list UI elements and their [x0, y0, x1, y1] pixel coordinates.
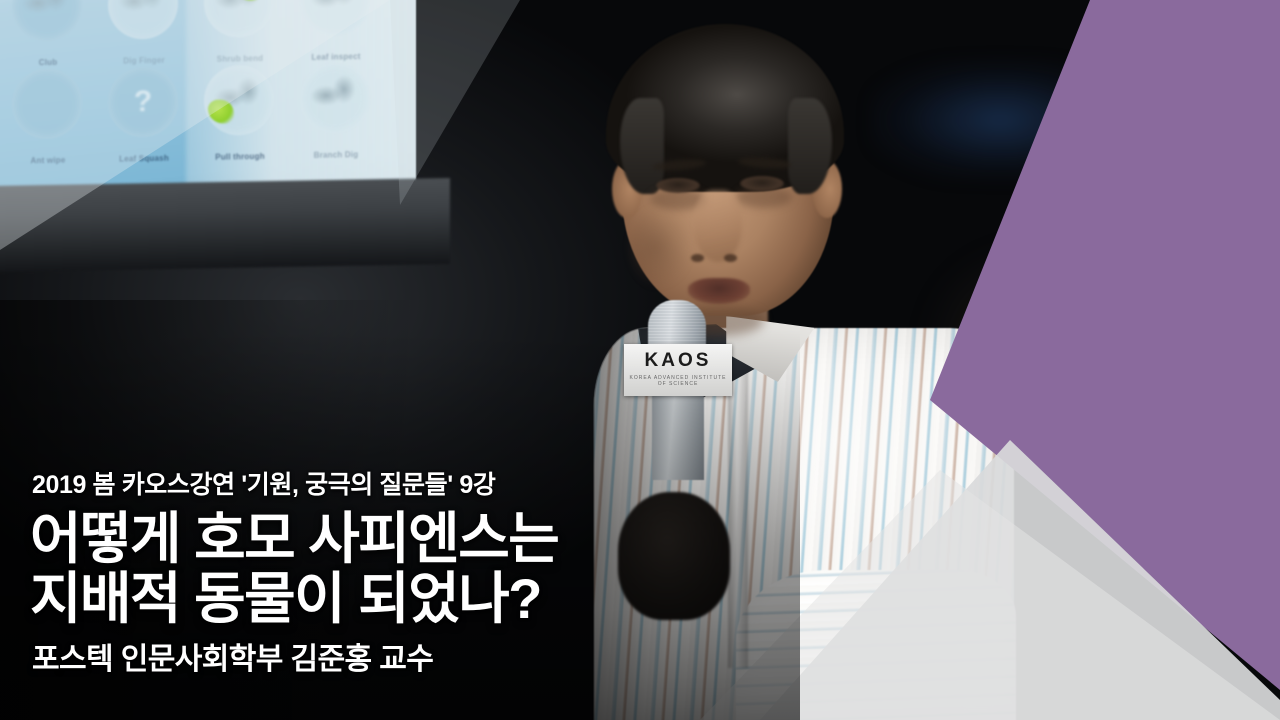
slide-row-1: Club Dig Finger Shrub bend [0, 0, 416, 66]
caption-presenter: 포스텍 인문사회학부 김준홍 교수 [32, 643, 810, 676]
video-thumbnail: Club Dig Finger Shrub bend [0, 0, 1280, 720]
slide-cell: Club [0, 0, 96, 66]
slide-label: Pull through [192, 151, 288, 162]
speaker-eye-right [740, 176, 784, 191]
speaker-mouth [688, 278, 750, 304]
projection-screen: Club Dig Finger Shrub bend [0, 0, 416, 190]
slide-row-2: Ant wipe ? Leaf Squash Pull through [0, 60, 416, 164]
slide-label: Ant wipe [0, 155, 96, 166]
slide-bubble-icon: ? [108, 66, 178, 137]
slide-label: Branch Dig [288, 149, 384, 160]
slide-cell: Shrub bend [192, 0, 288, 62]
caption-block: 2019 봄 카오스강연 '기원, 궁극의 질문들' 9강 어떻게 호모 사피엔… [30, 472, 810, 676]
slide-hand-sketch-icon [308, 69, 364, 122]
slide-cell: Leaf inspect [288, 0, 384, 60]
speaker-hair-temple-left [620, 98, 664, 194]
slide-cell: Pull through [192, 62, 288, 160]
slide-cell: Branch Dig [288, 60, 384, 158]
slide-hand-sketch-icon [308, 0, 364, 24]
caption-headline-line-1: 어떻게 호모 사피엔스는 [30, 509, 810, 569]
speaker-cheek-shadow [630, 206, 692, 288]
slide-hand-sketch-icon [116, 0, 172, 28]
slide-cell: ? Leaf Squash [96, 64, 192, 162]
speaker-eye-left [656, 178, 700, 193]
kaos-logo-subtext: KOREA ADVANCED INSTITUTE OF SCIENCE [624, 375, 732, 387]
microphone-logo-flag: KAOS KOREA ADVANCED INSTITUTE OF SCIENCE [624, 344, 732, 396]
stage-floor-band [0, 178, 450, 272]
slide-hand-sketch-icon [212, 0, 268, 26]
caption-headline-line-2: 지배적 동물이 되었나? [30, 569, 810, 629]
slide-cell: Dig Finger [96, 0, 192, 64]
slide-label: Leaf Squash [96, 153, 192, 164]
speaker-nostril-right [724, 254, 737, 262]
slide-bubble-icon [12, 68, 82, 139]
slide-question-mark-icon: ? [108, 66, 178, 137]
slide-hand-sketch-icon [20, 0, 76, 29]
speaker-nostril-left [691, 254, 704, 262]
speaker-nose [694, 190, 742, 262]
kaos-logo-text: KAOS [624, 350, 732, 372]
caption-kicker: 2019 봄 카오스강연 '기원, 궁극의 질문들' 9강 [32, 472, 810, 500]
slide-cell: Ant wipe [0, 66, 96, 164]
